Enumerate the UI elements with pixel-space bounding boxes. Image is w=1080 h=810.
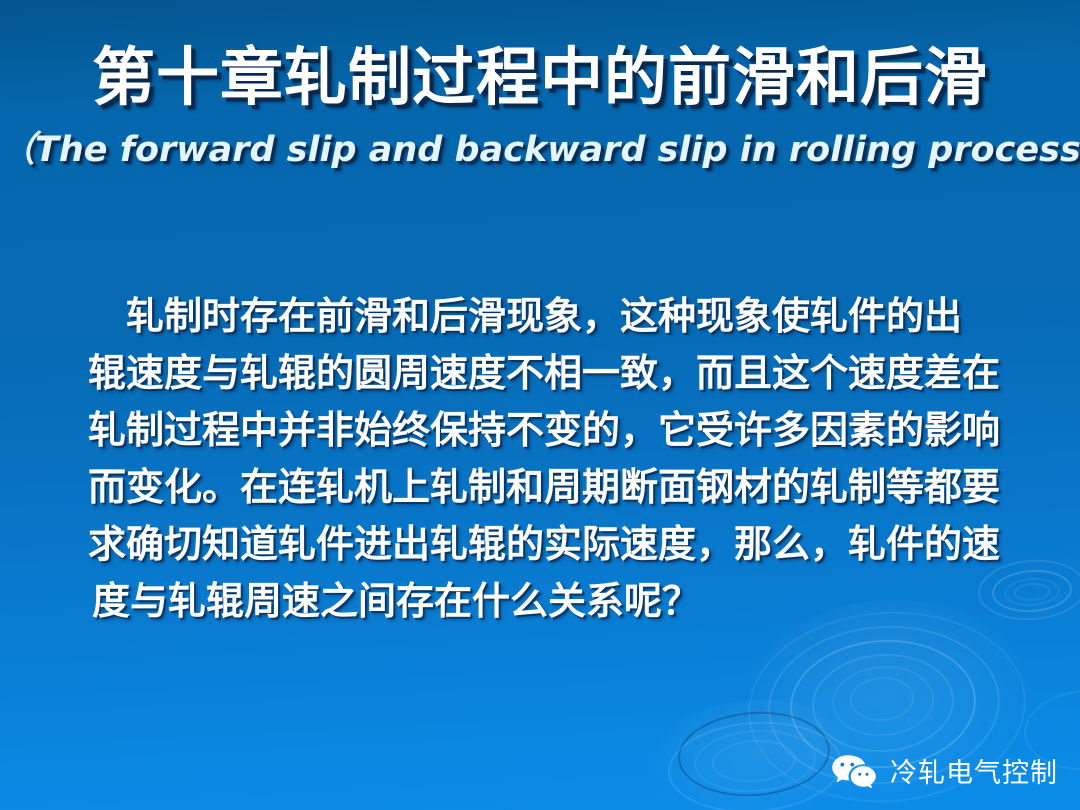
body-line: 辊速度与轧辊的圆周速度不相一致，而且这个速度差在 (88, 345, 1000, 402)
slide-canvas: 第十章轧制过程中的前滑和后滑 （The forward slip and bac… (0, 0, 1080, 810)
wechat-icon (831, 754, 877, 792)
title-block: 第十章轧制过程中的前滑和后滑 （The forward slip and bac… (0, 46, 1080, 170)
ripple-ring (675, 707, 832, 801)
page-subtitle: （The forward slip and backward slip in r… (0, 131, 1080, 170)
ripple-ring (711, 737, 798, 785)
ripple-ring (1003, 576, 1061, 608)
body-line: 轧制时存在前滑和后滑现象，这种现象使轧件的出 (88, 288, 1000, 345)
ripple-ring (809, 649, 957, 757)
ripple-ring (991, 567, 1074, 614)
ripple-ring (830, 663, 937, 740)
watermark: 冷轧电气控制 (831, 754, 1058, 792)
ripple-ring (849, 675, 916, 723)
body-line: 度与轧辊周速之间存在什么关系呢？ (88, 573, 1000, 630)
body-line: 求确切知道轧件进出轧辊的实际速度，那么，轧件的速 (88, 516, 1000, 573)
body-line: 轧制过程中并非始终保持不变的，它受许多因素的影响 (88, 402, 1000, 459)
ripple-glow (648, 693, 860, 810)
page-title: 第十章轧制过程中的前滑和后滑 (0, 46, 1080, 109)
ripple-ring (692, 726, 818, 796)
ripple-ring (665, 716, 845, 810)
body-text-block: 轧制时存在前滑和后滑现象，这种现象使轧件的出 辊速度与轧辊的圆周速度不相一致，而… (88, 288, 1000, 630)
body-line: 而变化。在连轧机上轧制和周期断面钢材的轧制等都要 (88, 459, 1000, 516)
ripple-ring (1013, 582, 1050, 602)
watermark-label: 冷轧电气控制 (890, 760, 1058, 787)
